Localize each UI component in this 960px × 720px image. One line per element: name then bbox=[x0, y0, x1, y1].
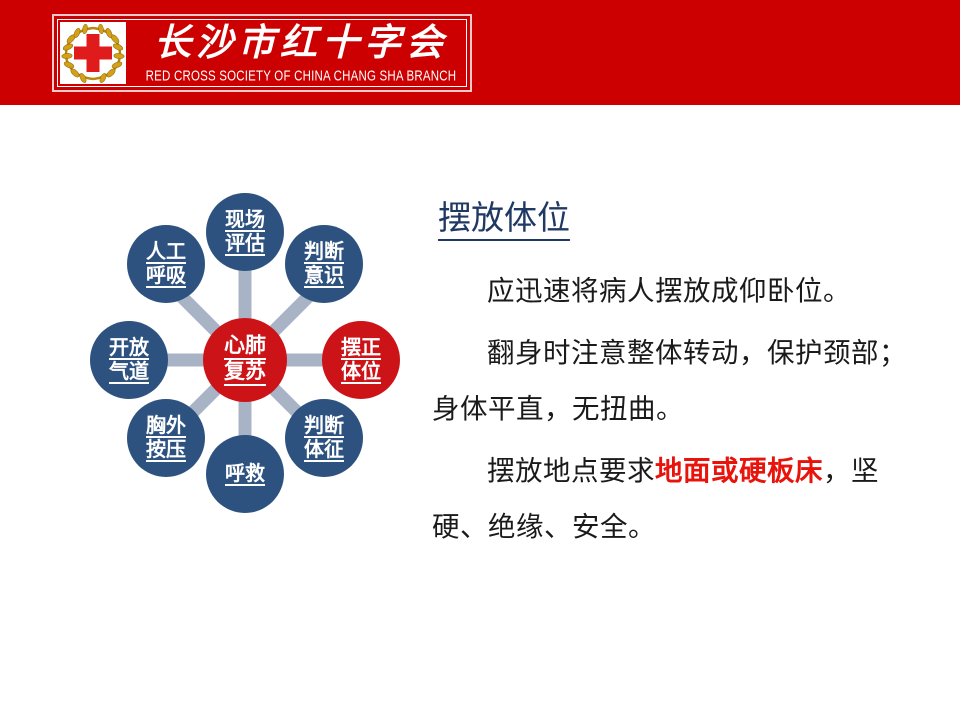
node-line-2: 体征 bbox=[304, 438, 344, 462]
node-line-2: 呼吸 bbox=[146, 264, 186, 288]
node-line-1: 现场 bbox=[225, 208, 265, 232]
node-line-1: 胸外 bbox=[146, 414, 186, 438]
node-line-1: 开放 bbox=[109, 336, 149, 360]
paragraph-3: 摆放地点要求地面或硬板床，坚硬、绝缘、安全。 bbox=[432, 443, 932, 555]
paragraph-3-highlight: 地面或硬板床 bbox=[655, 455, 823, 487]
node-line-2: 气道 bbox=[109, 360, 149, 384]
node-line-1: 判断 bbox=[304, 240, 344, 264]
diagram-node-hujiu[interactable]: 呼救 bbox=[206, 435, 284, 513]
node-line-1: 呼救 bbox=[225, 462, 265, 486]
logo-frame: 长沙市红十字会 RED CROSS SOCIETY OF CHINA CHANG… bbox=[52, 14, 472, 92]
red-cross-emblem bbox=[60, 22, 126, 84]
red-cross-wreath-icon bbox=[60, 22, 126, 84]
node-line-2: 意识 bbox=[304, 264, 344, 288]
center-node-line-2: 复苏 bbox=[224, 360, 266, 386]
node-line-2: 按压 bbox=[146, 438, 186, 462]
node-line-2: 评估 bbox=[225, 232, 265, 256]
paragraph-3-pre: 摆放地点要求 bbox=[487, 455, 655, 487]
diagram-node-xianchang-pinggu[interactable]: 现场 评估 bbox=[206, 193, 284, 271]
diagram-node-rengong-huxi[interactable]: 人工 呼吸 bbox=[127, 225, 205, 303]
node-line-1: 判断 bbox=[304, 414, 344, 438]
logo-text: 长沙市红十字会 RED CROSS SOCIETY OF CHINA CHANG… bbox=[136, 20, 466, 82]
diagram-node-xiongwai-anya[interactable]: 胸外 按压 bbox=[127, 399, 205, 477]
cpr-steps-diagram: 心肺 复苏 现场 评估 判断 意识 摆正 体位 判断 体征 呼救 胸外 按压 开… bbox=[70, 185, 420, 535]
node-line-1: 人工 bbox=[146, 240, 186, 264]
header-banner: 长沙市红十字会 RED CROSS SOCIETY OF CHINA CHANG… bbox=[0, 0, 960, 105]
paragraph-1: 应迅速将病人摆放成仰卧位。 bbox=[432, 263, 932, 319]
center-node-line-1: 心肺 bbox=[224, 334, 266, 360]
logo-title: 长沙市红十字会 bbox=[136, 20, 466, 66]
diagram-node-kaifang-qidao[interactable]: 开放 气道 bbox=[90, 321, 168, 399]
diagram-node-baizheng-tiwei[interactable]: 摆正 体位 bbox=[322, 321, 400, 399]
paragraph-2: 翻身时注意整体转动，保护颈部；身体平直，无扭曲。 bbox=[432, 325, 932, 437]
diagram-node-panduan-yishi[interactable]: 判断 意识 bbox=[285, 225, 363, 303]
node-line-1: 摆正 bbox=[341, 336, 381, 360]
node-line-2: 体位 bbox=[341, 360, 381, 384]
page-title: 摆放体位 bbox=[438, 198, 570, 241]
logo-subtitle: RED CROSS SOCIETY OF CHINA CHANG SHA BRA… bbox=[136, 68, 466, 86]
diagram-node-panduan-tizheng[interactable]: 判断 体征 bbox=[285, 399, 363, 477]
content-column: 摆放体位 应迅速将病人摆放成仰卧位。 翻身时注意整体转动，保护颈部；身体平直，无… bbox=[432, 198, 932, 555]
diagram-center-node: 心肺 复苏 bbox=[203, 318, 287, 402]
page-title-wrap: 摆放体位 bbox=[432, 198, 932, 241]
